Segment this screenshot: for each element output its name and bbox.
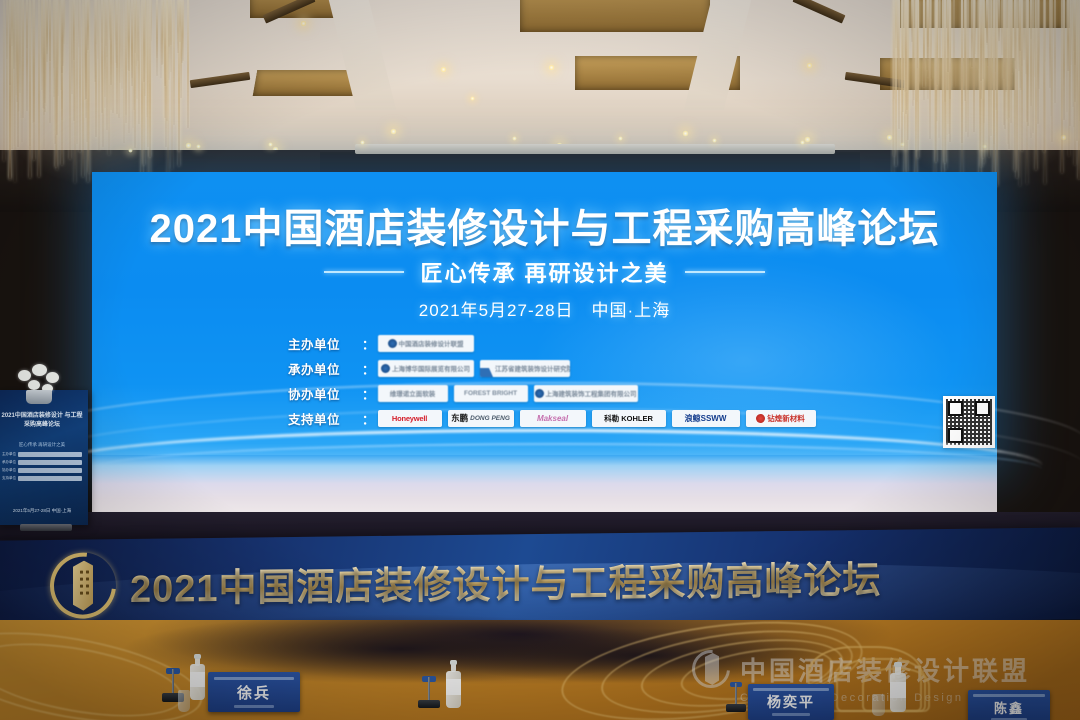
sponsor-logo: Makseal xyxy=(520,410,586,427)
rollup-row-label: 主办单位 xyxy=(2,452,16,457)
rollup-banner-base xyxy=(20,524,72,531)
sponsor-logo: 钻煌新材料 xyxy=(746,410,816,427)
sponsor-logo-text: 维璟诺立面软装 xyxy=(390,388,436,398)
ceiling-pelmet xyxy=(355,144,835,154)
sponsor-logo-text: 科勒 KOHLER xyxy=(604,413,653,424)
conference-stage-photo: 2021中国酒店装修设计与工程采购高峰论坛 匠心传承 再研设计之美 2021年5… xyxy=(0,0,1080,720)
stage-front-banner: 2021中国酒店装修设计与工程采购高峰论坛 xyxy=(0,527,1080,632)
sponsor-colon: ： xyxy=(362,359,375,378)
forum-tower-logo-icon xyxy=(50,552,116,619)
sponsor-logo-subtext: DONG PENG xyxy=(470,415,510,422)
forum-datetime-location: 2021年5月27-28日 中国·上海 xyxy=(92,296,997,321)
sponsor-logo-text: Makseal xyxy=(537,414,568,423)
sponsor-logo: 科勒 KOHLER xyxy=(592,410,666,427)
microphone xyxy=(726,682,746,712)
rollup-sponsor-rows: 主办单位 承办单位 协办单位 支持单位 xyxy=(2,452,82,484)
stage-apron-panel xyxy=(92,455,997,515)
sponsor-logo: FOREST BRIGHT xyxy=(454,385,528,402)
rollup-banner: 2021中国酒店装修设计 与工程采购高峰论坛 匠心传承 再研设计之美 主办单位 … xyxy=(0,390,88,525)
sponsor-logo-text: Honeywell xyxy=(392,414,427,423)
sponsor-tier-label: 支持单位 xyxy=(288,409,362,428)
sponsor-logo: 东鹏 DONG PENG xyxy=(448,410,514,427)
chandelier-right xyxy=(890,0,1080,200)
sponsor-row: 承办单位 ： 上海博华国际展览有限公司 江苏省建筑装饰设计研究院 xyxy=(288,357,828,379)
sponsor-logo-text: 中国酒店装修设计联盟 xyxy=(399,338,464,348)
rollup-title: 2021中国酒店装修设计 与工程采购高峰论坛 xyxy=(0,412,84,429)
sponsor-logo: 中国酒店装修设计联盟 xyxy=(378,335,474,352)
sponsor-logo-text: 上海博华国际展览有限公司 xyxy=(392,363,470,373)
rollup-row-label: 协办单位 xyxy=(2,468,16,473)
sponsor-logo: 上海博华国际展览有限公司 xyxy=(378,360,474,377)
sponsor-logo: 江苏省建筑装饰设计研究院 xyxy=(480,360,570,377)
subtitle-rule-left xyxy=(324,271,404,273)
subtitle-row: 匠心传承 再研设计之美 xyxy=(92,256,997,288)
led-backdrop-screen: 2021中国酒店装修设计与工程采购高峰论坛 匠心传承 再研设计之美 2021年5… xyxy=(92,172,997,467)
sponsor-logo-text: 上海建筑装饰工程集团有限公司 xyxy=(546,388,637,398)
nameplate-text: 徐兵 xyxy=(237,682,271,703)
sponsor-logo-text: FOREST BRIGHT xyxy=(464,390,517,397)
rollup-row-label: 支持单位 xyxy=(2,476,16,481)
drinking-glass xyxy=(872,694,885,716)
chandelier-left xyxy=(0,0,190,200)
sponsor-logo: 上海建筑装饰工程集团有限公司 xyxy=(534,385,638,402)
sponsor-colon: ： xyxy=(362,334,375,353)
water-bottle xyxy=(446,660,461,708)
subtitle-rule-right xyxy=(685,271,765,273)
logo-mark-icon xyxy=(388,339,397,348)
sponsor-logo-text: 浪鲸SSWW xyxy=(685,413,727,424)
sponsor-row: 主办单位 ： 中国酒店装修设计联盟 xyxy=(288,332,828,354)
sponsor-logo-text: 钻煌新材料 xyxy=(767,413,805,424)
rollup-row-label: 承办单位 xyxy=(2,460,16,465)
nameplate: 陈鑫 xyxy=(968,690,1050,720)
forum-subtitle: 匠心传承 再研设计之美 xyxy=(420,256,668,288)
banner-title: 2021中国酒店装修设计与工程采购高峰论坛 xyxy=(130,548,882,612)
water-bottle xyxy=(190,654,205,700)
rollup-subtitle: 匠心传承 再研设计之美 xyxy=(0,442,84,448)
sponsor-logo: 维璟诺立面软装 xyxy=(378,385,448,402)
sponsor-logo-text: 江苏省建筑装饰设计研究院 xyxy=(495,363,570,373)
qr-code[interactable] xyxy=(943,396,995,448)
logo-mark-icon xyxy=(756,414,765,423)
sponsor-row: 协办单位 ： 维璟诺立面软装 FOREST BRIGHT 上海建筑装饰工程集团有… xyxy=(288,382,828,404)
logo-mark-icon xyxy=(480,360,494,377)
nameplate-text: 陈鑫 xyxy=(994,698,1024,717)
logo-mark-icon xyxy=(535,389,544,398)
sponsor-tier-label: 承办单位 xyxy=(288,359,362,378)
sponsor-block: 主办单位 ： 中国酒店装修设计联盟 承办单位 ： 上海博华国际展览有限公司 xyxy=(288,332,828,432)
forum-title: 2021中国酒店装修设计与工程采购高峰论坛 xyxy=(92,196,997,254)
sponsor-colon: ： xyxy=(362,409,375,428)
sponsor-logo: 浪鲸SSWW xyxy=(672,410,740,427)
drinking-glass xyxy=(178,690,190,712)
flower-arrangement xyxy=(12,360,72,402)
water-bottle xyxy=(890,662,906,712)
nameplate: 杨奕平 xyxy=(748,684,834,720)
sponsor-tier-label: 协办单位 xyxy=(288,384,362,403)
sponsor-tier-label: 主办单位 xyxy=(288,334,362,353)
nameplate: 徐兵 xyxy=(208,672,300,712)
microphone xyxy=(418,676,440,708)
sponsor-row: 支持单位 ： Honeywell 东鹏 DONG PENG Makseal 科勒… xyxy=(288,407,828,429)
logo-mark-icon xyxy=(381,364,390,373)
sponsor-logo: Honeywell xyxy=(378,410,442,427)
sponsor-logo-text: 东鹏 xyxy=(451,412,468,424)
rollup-datetime: 2021年5月27-28日 中国·上海 xyxy=(0,508,84,515)
sponsor-colon: ： xyxy=(362,384,375,403)
nameplate-text: 杨奕平 xyxy=(767,692,815,712)
